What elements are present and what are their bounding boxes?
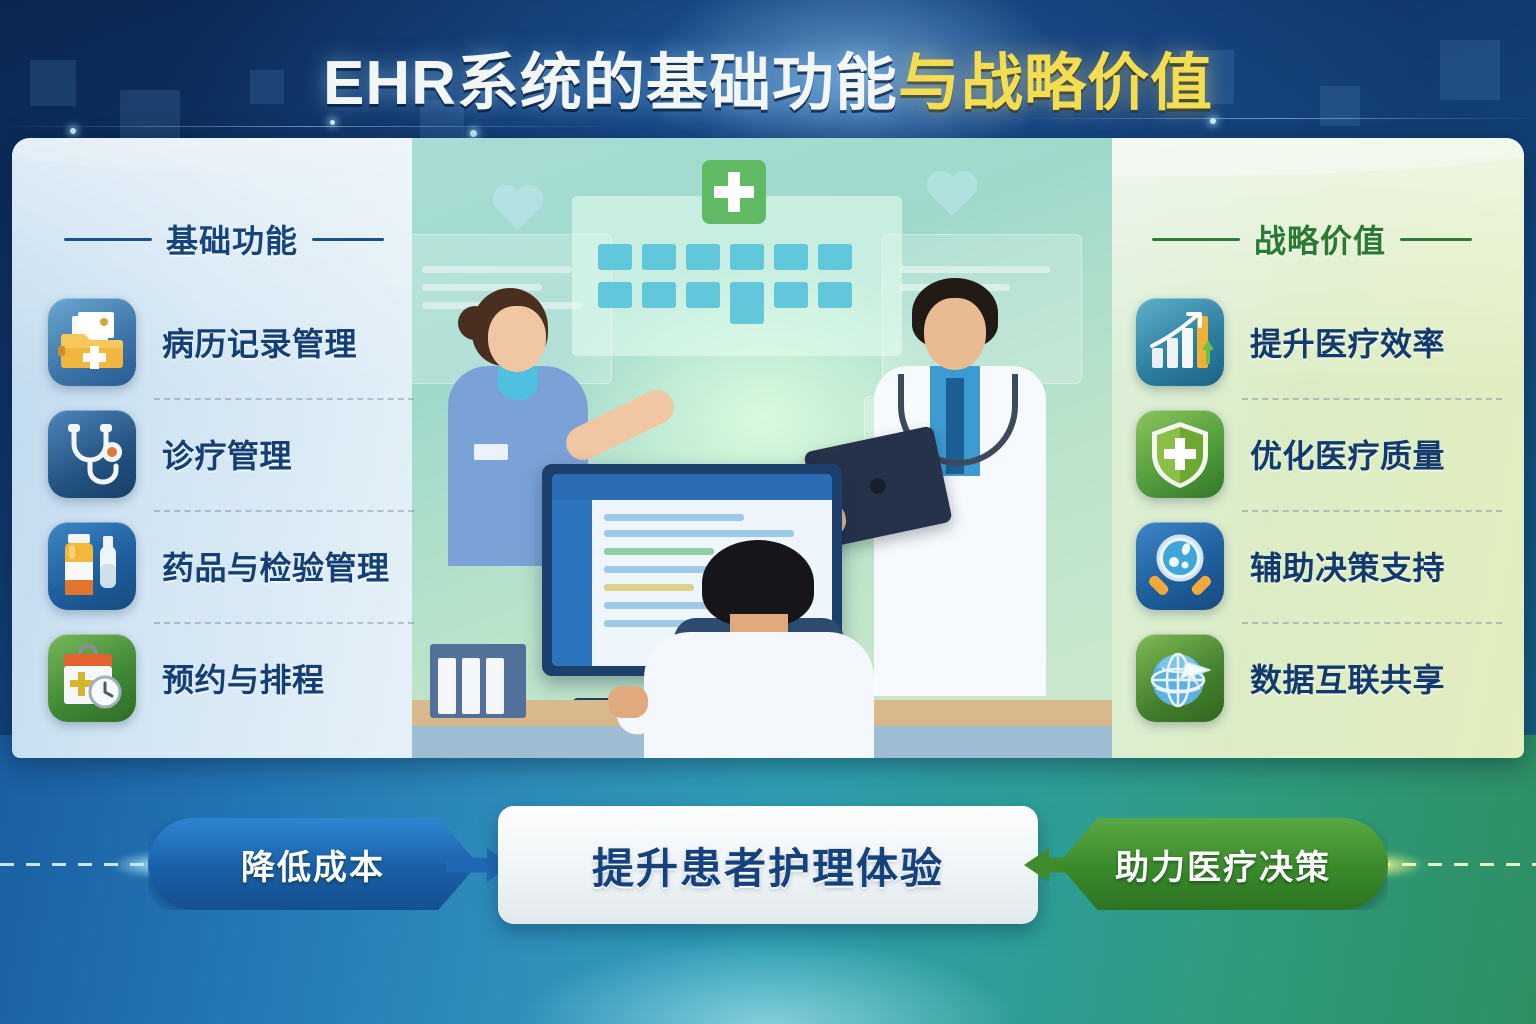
list-item-decision-support[interactable]: 辅助决策支持 [1112,510,1512,622]
heart-icon [490,186,546,236]
list-item-quality[interactable]: 优化医疗质量 [1112,398,1512,510]
deco-dot [470,130,477,137]
header-rule-right [1400,238,1472,241]
right-item-list: 提升医疗效率 优化医疗质量 [1112,286,1512,734]
list-item-pharmacy-lab[interactable]: 药品与检验管理 [24,510,424,622]
list-item-medical-record[interactable]: 病历记录管理 [24,286,424,398]
cost-reduction-banner[interactable]: 降低成本 [148,818,478,910]
decision-support-banner[interactable]: 助力医疗决策 [1058,818,1388,910]
basic-functions-column: 基础功能 [24,138,424,758]
deco-dot [70,128,76,134]
screen-row [604,530,794,537]
magnifier-icon [1136,522,1224,610]
window-cell [642,244,676,270]
window-cell [686,244,720,270]
window-cell [642,282,676,308]
list-item-label: 诊疗管理 [162,431,292,477]
nurse-face [488,306,546,372]
title-bar: EHR系统的基础功能与战略价值 [0,34,1536,120]
window-cell [730,282,764,324]
file-box [430,644,526,718]
shield-cross-icon [1136,410,1224,498]
list-item-diagnosis[interactable]: 诊疗管理 [24,398,424,510]
stethoscope-icon [48,410,136,498]
title-accent: 与战略价值 [898,49,1213,118]
list-item-appointment[interactable]: 预约与排程 [24,622,424,734]
list-item-efficiency[interactable]: 提升医疗效率 [1112,286,1512,398]
globe-network-icon [1136,634,1224,722]
seated-doctor-hand [608,686,648,718]
patient-experience-banner[interactable]: 提升患者护理体验 [498,806,1038,924]
header-rule-left [64,238,152,241]
screen-sidebar [552,500,592,666]
right-column-title: 战略价值 [1254,216,1386,262]
screen-toolbar [552,474,832,500]
calendar-clock-icon [48,634,136,722]
list-item-label: 预约与排程 [162,655,325,701]
list-item-label: 数据互联共享 [1250,655,1445,701]
infographic-canvas: EHR系统的基础功能与战略价值 [0,0,1536,1024]
page-title: EHR系统的基础功能与战略价值 [323,32,1213,122]
window-cell [598,282,632,308]
left-column-title: 基础功能 [166,216,298,262]
medicine-bottle-icon [48,522,136,610]
bottom-banner-row: 降低成本 提升患者护理体验 助力医疗决策 [0,806,1536,924]
decision-support-label: 助力医疗决策 [1115,840,1331,889]
header-rule-right [312,238,384,241]
list-item-data-sharing[interactable]: 数据互联共享 [1112,622,1512,734]
window-cell [730,244,764,270]
window-cell [818,244,852,270]
doctor-face [924,298,986,370]
screen-row [604,514,744,521]
patient-experience-label: 提升患者护理体验 [592,835,944,896]
deco-line [0,126,620,127]
window-cell [774,282,808,308]
title-main: EHR系统的基础功能 [323,49,898,118]
bar-chart-growth-icon [1136,298,1224,386]
left-column-header: 基础功能 [24,216,424,262]
central-illustration [412,138,1112,758]
list-item-label: 药品与检验管理 [162,543,390,589]
nurse-badge [474,444,508,460]
list-item-label: 提升医疗效率 [1250,319,1445,365]
medical-folder-icon [48,298,136,386]
window-cell [818,282,852,308]
heart-icon [924,172,980,222]
content-panel: 基础功能 [12,138,1524,758]
strategic-value-column: 战略价值 [1112,138,1512,758]
window-cell [598,244,632,270]
header-rule-left [1152,238,1240,241]
right-column-header: 战略价值 [1112,216,1512,262]
cost-reduction-label: 降低成本 [241,840,385,889]
holo-row [422,266,572,273]
holo-row [900,266,1050,273]
screen-row [604,548,714,555]
window-cell [774,244,808,270]
window-cell [686,282,720,308]
screen-row [604,584,694,591]
left-item-list: 病历记录管理 诊疗管理 [24,286,424,734]
hospital-cross-icon [702,160,766,224]
list-item-label: 优化医疗质量 [1250,431,1445,477]
list-item-label: 病历记录管理 [162,319,357,365]
list-item-label: 辅助决策支持 [1250,543,1445,589]
